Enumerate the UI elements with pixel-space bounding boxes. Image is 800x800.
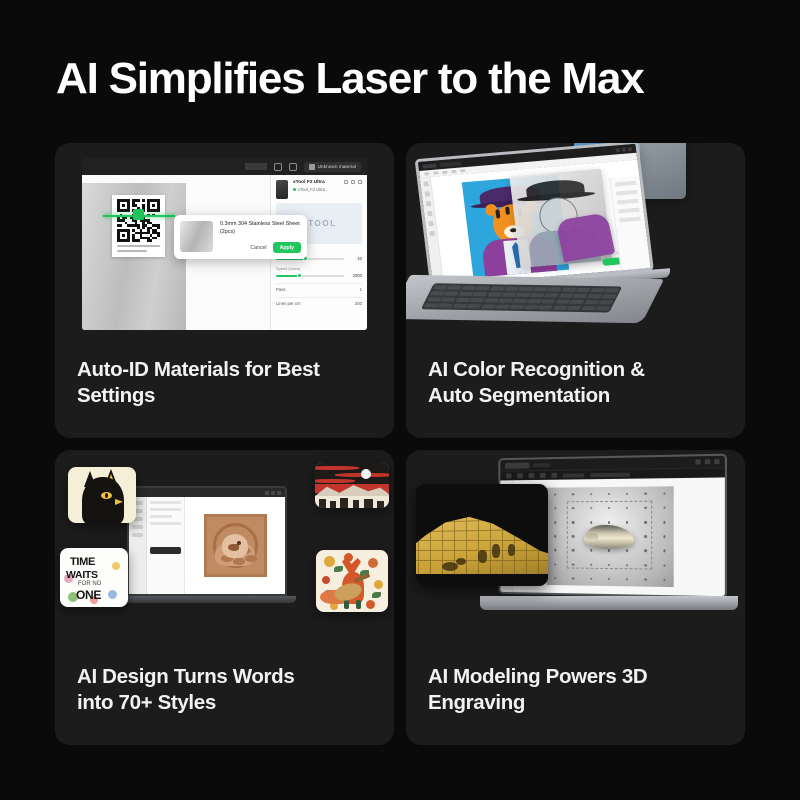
cancel-button[interactable]: Cancel xyxy=(250,245,266,251)
generate-button[interactable] xyxy=(150,547,181,554)
card-media-color-recognition xyxy=(406,143,745,341)
artwork-eagle-relief xyxy=(204,514,267,577)
separation-layer-purple xyxy=(555,212,615,262)
page-title: AI Simplifies Laser to the Max xyxy=(56,56,644,102)
pass-label: Pass xyxy=(276,287,286,292)
apply-button[interactable]: Apply xyxy=(273,242,301,253)
gear-icon[interactable] xyxy=(351,180,355,184)
ai-prompt-panel[interactable] xyxy=(147,497,185,594)
topbar-field xyxy=(245,163,267,170)
undo-icon[interactable] xyxy=(540,473,546,478)
label-text-line xyxy=(117,245,160,247)
app-topbar: Unknown material xyxy=(82,158,367,175)
device-header: xTool F2 Ultra xTool_F2 Ultra... xyxy=(276,180,362,199)
surface-mesh-overlay xyxy=(416,506,548,574)
material-chip[interactable]: Unknown material xyxy=(304,162,361,172)
speed-value: 3300 xyxy=(348,273,362,278)
feature-card-3d-modeling[interactable]: AI Modeling Powers 3D Engraving xyxy=(406,450,745,745)
grid-icon[interactable] xyxy=(517,473,523,478)
style-tile-cat[interactable] xyxy=(68,467,136,523)
status-dot-icon xyxy=(293,188,296,191)
device-name: xTool F2 Ultra xyxy=(293,180,329,185)
shape-icon[interactable] xyxy=(529,473,535,478)
power-value: 40 xyxy=(348,256,362,261)
curved-surface-preview xyxy=(416,484,548,586)
material-chip-label: Unknown material xyxy=(318,164,356,169)
laser-software-screenshot: Unknown material xyxy=(82,158,367,330)
style-tile-fox[interactable] xyxy=(316,550,388,612)
typography-line-4: ONE xyxy=(76,588,101,602)
device-thumbnail xyxy=(276,180,288,199)
laptop-screen xyxy=(127,486,287,596)
lines-label: Lines per cm xyxy=(276,301,301,306)
image-tool-icon[interactable] xyxy=(132,533,143,537)
card-media-auto-id: Unknown material xyxy=(55,143,394,341)
minimize-icon[interactable] xyxy=(695,459,700,464)
laptop-keyboard-deck xyxy=(406,275,664,323)
parameter-speed: Speed (mm/s) 3300 xyxy=(276,266,362,278)
device-status-label: xTool_F2 Ultra... xyxy=(298,187,329,192)
laptop-screen xyxy=(415,143,654,289)
material-detect-dialog[interactable]: 0.3mm 304 Stainless Steel Sheet (2pcs) C… xyxy=(174,215,307,259)
laptop-base xyxy=(480,596,738,610)
feature-card-grid: Unknown material xyxy=(55,143,745,745)
laptop-device xyxy=(127,486,287,604)
cursor-icon[interactable] xyxy=(506,474,512,479)
extrude-label xyxy=(563,473,584,477)
typography-line-1: TIME xyxy=(70,556,95,568)
promo-page: AI Simplifies Laser to the Max Unknown m… xyxy=(0,0,800,800)
lines-value: 200 xyxy=(355,301,362,306)
alert-icon xyxy=(274,163,282,171)
document-tab[interactable] xyxy=(505,462,529,468)
ai-design-icon[interactable] xyxy=(132,525,143,529)
style-tile-typography[interactable]: TIME WAITS FOR NO ONE xyxy=(60,548,128,607)
detected-material-name: 0.3mm 304 Stainless Steel Sheet (2pcs) xyxy=(220,221,301,237)
typography-line-2: WAITS xyxy=(66,569,98,581)
image-tool-icon[interactable] xyxy=(427,211,433,216)
pass-value: 1 xyxy=(360,287,362,292)
speed-label: Speed (mm/s) xyxy=(276,266,362,271)
speed-slider[interactable] xyxy=(276,275,344,277)
feature-card-color-recognition[interactable]: AI Color Recognition & Auto Segmentation xyxy=(406,143,745,438)
label-text-line xyxy=(117,250,147,252)
settings-icon xyxy=(289,163,297,171)
material-label-sticker xyxy=(112,195,165,257)
card-media-3d-modeling xyxy=(406,450,745,648)
parameter-pass: Pass 1 xyxy=(276,283,362,292)
app-titlebar xyxy=(129,488,285,497)
qr-code xyxy=(117,199,160,242)
design-canvas xyxy=(185,497,285,594)
surface-preview-label xyxy=(590,472,630,477)
copy-icon[interactable] xyxy=(358,180,362,184)
card-title-3d-modeling: AI Modeling Powers 3D Engraving xyxy=(406,648,745,716)
feature-card-design-styles[interactable]: TIME WAITS FOR NO ONE xyxy=(55,450,394,745)
card-media-design-styles: TIME WAITS FOR NO ONE xyxy=(55,450,394,648)
scan-line xyxy=(103,215,175,217)
laptop-base xyxy=(118,596,296,603)
close-icon[interactable] xyxy=(714,459,719,464)
shape-tool-icon[interactable] xyxy=(424,191,430,196)
card-title-color-recognition: AI Color Recognition & Auto Segmentation xyxy=(406,341,745,409)
material-thumbnail xyxy=(180,221,213,252)
device-status: xTool_F2 Ultra... xyxy=(293,187,329,192)
device-actions[interactable] xyxy=(344,180,362,184)
refresh-icon[interactable] xyxy=(344,180,348,184)
parameter-lines: Lines per cm 200 xyxy=(276,297,362,306)
select-tool-icon[interactable] xyxy=(423,181,429,186)
style-tile-landscape[interactable] xyxy=(315,462,389,508)
feature-card-auto-id[interactable]: Unknown material xyxy=(55,143,394,438)
maximize-icon[interactable] xyxy=(705,459,710,464)
engraving-stage xyxy=(547,486,674,587)
redo-icon[interactable] xyxy=(551,473,557,478)
text-tool-icon[interactable] xyxy=(425,201,431,206)
card-title-design-styles: AI Design Turns Words into 70+ Styles xyxy=(55,648,394,716)
pen-tool-icon[interactable] xyxy=(428,221,434,226)
card-title-auto-id: Auto-ID Materials for Best Settings xyxy=(55,341,394,409)
ai-tool-icon[interactable] xyxy=(429,231,435,236)
typography-line-3: FOR NO xyxy=(78,581,101,587)
laptop-keyboard xyxy=(421,283,622,312)
material-icon xyxy=(309,164,315,170)
